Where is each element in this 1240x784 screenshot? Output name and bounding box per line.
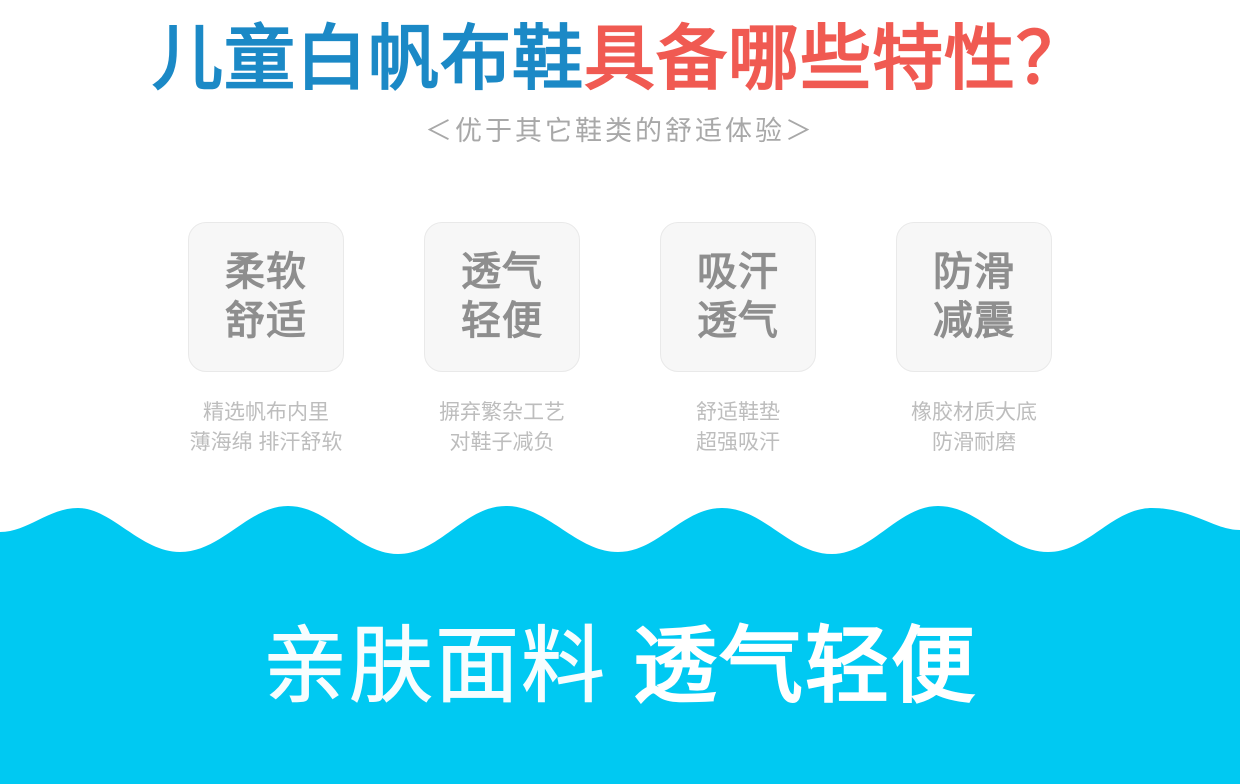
feature-box: 柔软 舒适 xyxy=(188,222,344,372)
feature-item-antislip-shock: 防滑 减震 橡胶材质大底 防滑耐磨 xyxy=(886,222,1062,459)
banner-text-block: 亲肤面料透气轻便 xyxy=(0,624,1240,708)
feature-box-line-1: 柔软 xyxy=(225,248,307,297)
feature-box-line-1: 透气 xyxy=(461,248,543,297)
feature-item-breathable-light: 透气 轻便 摒弃繁杂工艺 对鞋子减负 xyxy=(414,222,590,459)
feature-item-soft-comfortable: 柔软 舒适 精选帆布内里 薄海绵 排汗舒软 xyxy=(178,222,354,459)
promo-page: 儿童白帆布鞋具备哪些特性？ ＜优于其它鞋类的舒适体验＞ 柔软 舒适 精选帆布内里… xyxy=(0,0,1240,784)
banner-text-solid: 透气轻便 xyxy=(633,619,977,713)
feature-box-line-2: 透气 xyxy=(697,297,779,346)
feature-caption-line-1: 精选帆布内里 xyxy=(190,398,343,428)
feature-caption-line-2: 对鞋子减负 xyxy=(439,428,565,458)
page-title-red-part: 具备哪些特性？ xyxy=(584,20,1088,99)
feature-caption-line-2: 防滑耐磨 xyxy=(911,428,1037,458)
feature-box-line-1: 防滑 xyxy=(933,248,1015,297)
feature-box: 防滑 减震 xyxy=(896,222,1052,372)
feature-list: 柔软 舒适 精选帆布内里 薄海绵 排汗舒软 透气 轻便 摒弃繁杂工艺 对鞋子减负… xyxy=(0,222,1240,459)
feature-box-line-2: 轻便 xyxy=(461,297,543,346)
feature-box-line-2: 减震 xyxy=(933,297,1015,346)
feature-caption: 精选帆布内里 薄海绵 排汗舒软 xyxy=(190,398,343,459)
feature-caption-line-1: 摒弃繁杂工艺 xyxy=(439,398,565,428)
feature-caption-line-2: 薄海绵 排汗舒软 xyxy=(190,428,343,458)
feature-caption-line-1: 橡胶材质大底 xyxy=(911,398,1037,428)
feature-caption-line-2: 超强吸汗 xyxy=(696,428,780,458)
page-title-blue-part: 儿童白帆布鞋 xyxy=(152,20,584,99)
feature-item-sweat-absorbing: 吸汗 透气 舒适鞋垫 超强吸汗 xyxy=(650,222,826,459)
page-subtitle: ＜优于其它鞋类的舒适体验＞ xyxy=(0,117,1240,147)
header-block: 儿童白帆布鞋具备哪些特性？ ＜优于其它鞋类的舒适体验＞ xyxy=(0,24,1240,147)
feature-caption: 舒适鞋垫 超强吸汗 xyxy=(696,398,780,459)
feature-caption-line-1: 舒适鞋垫 xyxy=(696,398,780,428)
feature-box: 吸汗 透气 xyxy=(660,222,816,372)
page-title: 儿童白帆布鞋具备哪些特性？ xyxy=(0,24,1240,95)
feature-box-line-2: 舒适 xyxy=(225,297,307,346)
feature-box-line-1: 吸汗 xyxy=(697,248,779,297)
feature-caption: 橡胶材质大底 防滑耐磨 xyxy=(911,398,1037,459)
feature-caption: 摒弃繁杂工艺 对鞋子减负 xyxy=(439,398,565,459)
feature-box: 透气 轻便 xyxy=(424,222,580,372)
banner-text-outline: 亲肤面料 xyxy=(263,619,607,713)
